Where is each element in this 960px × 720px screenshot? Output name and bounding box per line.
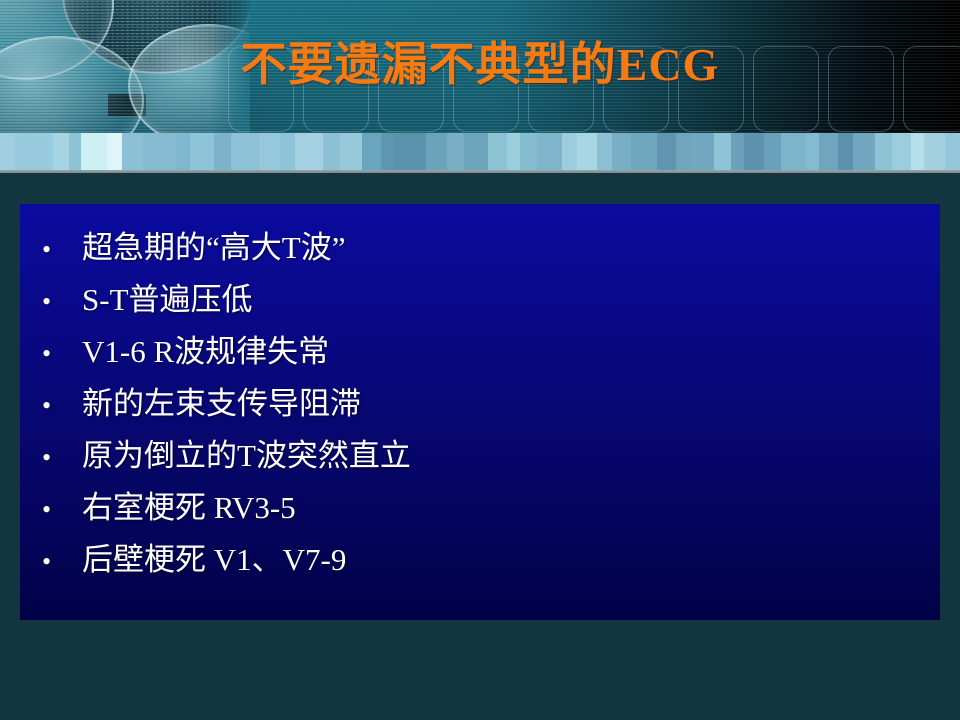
stripe-segment bbox=[0, 133, 15, 170]
list-item-label: 超急期的“高大T波” bbox=[82, 222, 345, 274]
stripe-segment bbox=[295, 133, 323, 170]
header-separator-rule bbox=[0, 170, 960, 173]
stripe-segment bbox=[69, 133, 80, 170]
stripe-segment bbox=[15, 133, 53, 170]
decorative-stripe-band bbox=[0, 133, 960, 170]
list-item-label: 后壁梗死 V1、V7-9 bbox=[82, 534, 346, 586]
list-item: •新的左束支传导阻滞 bbox=[20, 378, 940, 430]
stripe-segment bbox=[744, 133, 765, 170]
list-item: •V1-6 R波规律失常 bbox=[20, 326, 940, 378]
stripe-segment bbox=[676, 133, 691, 170]
stripe-segment bbox=[323, 133, 340, 170]
list-item-label: 新的左束支传导阻滞 bbox=[82, 378, 361, 430]
stripe-segment bbox=[231, 133, 259, 170]
slide: 不要遗漏不典型的ECG •超急期的“高大T波”•S-T普遍压低•V1-6 R波规… bbox=[0, 0, 960, 720]
stripe-segment bbox=[691, 133, 714, 170]
list-item-label: S-T普遍压低 bbox=[82, 274, 253, 326]
stripe-segment bbox=[892, 133, 911, 170]
stripe-segment bbox=[340, 133, 363, 170]
list-item: •右室梗死 RV3-5 bbox=[20, 482, 940, 534]
stripe-segment bbox=[507, 133, 520, 170]
stripe-segment bbox=[853, 133, 876, 170]
stripe-segment bbox=[806, 133, 819, 170]
bullet-marker-icon: • bbox=[42, 432, 82, 484]
list-item-label: V1-6 R波规律失常 bbox=[82, 326, 329, 378]
list-item: •原为倒立的T波突然直立 bbox=[20, 430, 940, 482]
stripe-segment bbox=[731, 133, 744, 170]
stripe-segment bbox=[362, 133, 381, 170]
stripe-segment bbox=[447, 133, 464, 170]
stripe-segment bbox=[781, 133, 805, 170]
list-item-label: 原为倒立的T波突然直立 bbox=[82, 430, 411, 482]
stripe-segment bbox=[819, 133, 838, 170]
stripe-segment bbox=[657, 133, 676, 170]
stripe-segment bbox=[562, 133, 577, 170]
page-title: 不要遗漏不典型的ECG bbox=[0, 28, 960, 94]
stripe-segment bbox=[838, 133, 853, 170]
stripe-segment bbox=[280, 133, 295, 170]
list-item: •后壁梗死 V1、V7-9 bbox=[20, 534, 940, 586]
stripe-segment bbox=[107, 133, 122, 170]
stripe-segment bbox=[714, 133, 731, 170]
bullet-marker-icon: • bbox=[42, 536, 82, 588]
stripe-segment bbox=[764, 133, 781, 170]
stripe-segment bbox=[214, 133, 231, 170]
bullet-marker-icon: • bbox=[42, 380, 82, 432]
stripe-segment bbox=[924, 133, 945, 170]
stripe-segment bbox=[53, 133, 70, 170]
stripe-segment bbox=[612, 133, 631, 170]
list-item: •超急期的“高大T波” bbox=[20, 222, 940, 274]
stripe-segment bbox=[177, 133, 190, 170]
list-item-label: 右室梗死 RV3-5 bbox=[82, 482, 296, 534]
stripe-segment bbox=[394, 133, 426, 170]
header-banner: 不要遗漏不典型的ECG bbox=[0, 0, 960, 133]
stripe-segment bbox=[520, 133, 537, 170]
stripe-segment bbox=[537, 133, 561, 170]
stripe-segment bbox=[577, 133, 598, 170]
stripe-segment bbox=[190, 133, 214, 170]
stripe-segment bbox=[381, 133, 394, 170]
stripe-segment bbox=[81, 133, 107, 170]
bullet-marker-icon: • bbox=[42, 328, 82, 380]
stripe-segment bbox=[426, 133, 447, 170]
list-item: •S-T普遍压低 bbox=[20, 274, 940, 326]
stripe-segment bbox=[631, 133, 657, 170]
stripe-segment bbox=[911, 133, 924, 170]
stripe-segment bbox=[259, 133, 280, 170]
bullet-list: •超急期的“高大T波”•S-T普遍压低•V1-6 R波规律失常•新的左束支传导阻… bbox=[20, 222, 940, 586]
stripe-segment bbox=[875, 133, 892, 170]
stripe-segment bbox=[488, 133, 507, 170]
stripe-segment bbox=[597, 133, 612, 170]
bullet-marker-icon: • bbox=[42, 276, 82, 328]
bullet-marker-icon: • bbox=[42, 224, 82, 276]
content-box: •超急期的“高大T波”•S-T普遍压低•V1-6 R波规律失常•新的左束支传导阻… bbox=[20, 204, 940, 620]
stripe-segment bbox=[464, 133, 488, 170]
stripe-segment bbox=[122, 133, 143, 170]
stripe-segment bbox=[945, 133, 960, 170]
stripe-segment bbox=[143, 133, 177, 170]
bullet-marker-icon: • bbox=[42, 484, 82, 536]
